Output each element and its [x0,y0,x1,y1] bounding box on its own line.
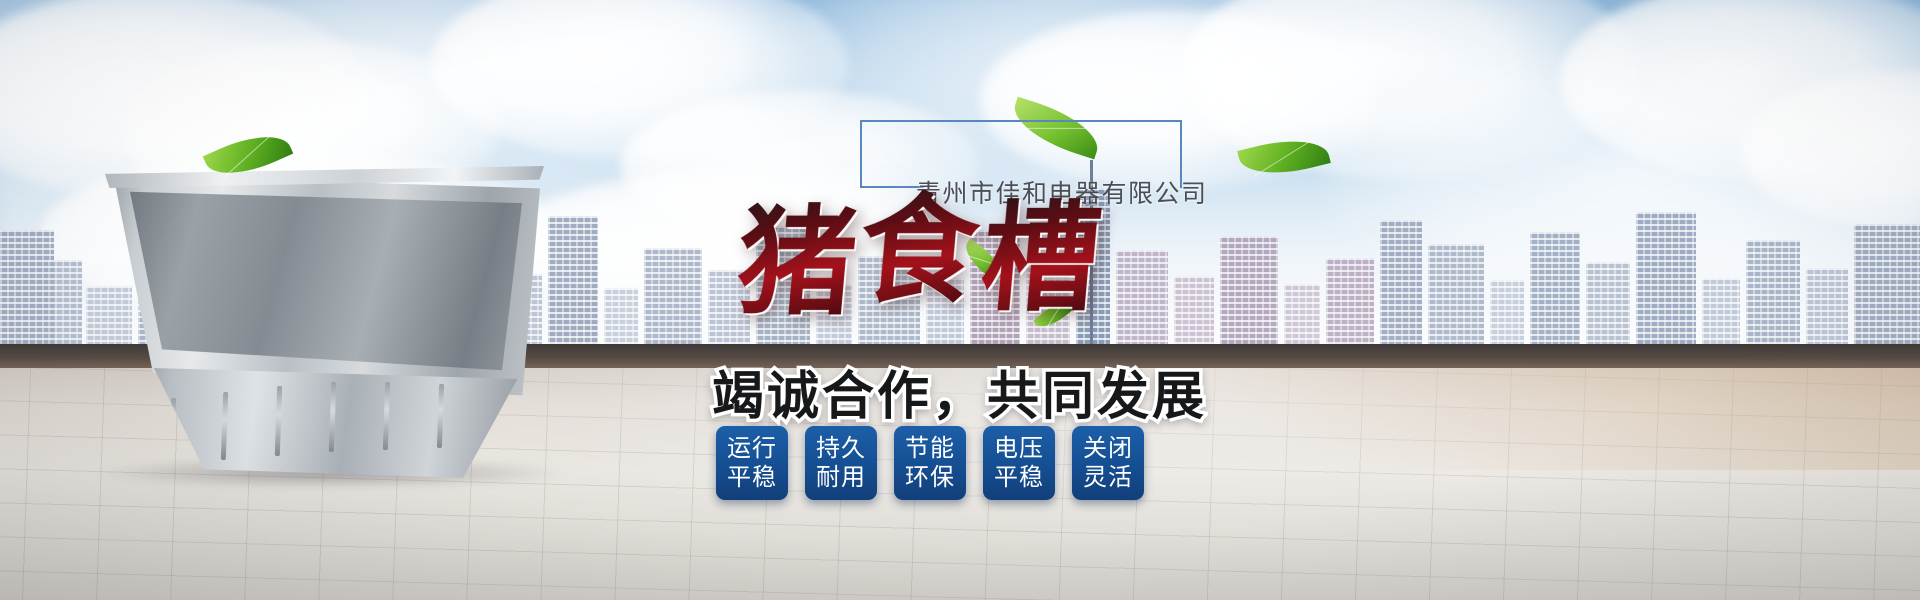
main-title-char-2: 食 [855,190,984,310]
feature-badge-4-line1: 电压 [994,434,1044,463]
feature-badge-3-line1: 节能 [905,434,955,463]
feature-badge-1-line1: 运行 [727,434,777,463]
feature-badge-5[interactable]: 关闭 灵活 [1072,426,1144,500]
product-image-pig-feeder-trough [60,160,580,480]
feature-badge-5-line2: 灵活 [1083,463,1133,492]
feature-badge-4[interactable]: 电压 平稳 [983,426,1055,500]
feature-badge-3-line2: 环保 [905,463,955,492]
feature-badge-2-line1: 持久 [816,434,866,463]
feature-badge-4-line2: 平稳 [994,463,1044,492]
banner-subtitle: 竭诚合作，共同发展 [712,354,1207,429]
feature-badge-list: 运行 平稳 持久 耐用 节能 环保 电压 平稳 关闭 灵活 [716,426,1144,500]
promotional-banner: 青州市佳和电器有限公司 猪 食 槽 竭诚合作，共同发展 运行 平稳 持久 耐用 … [0,0,1920,600]
main-title: 猪 食 槽 [710,196,1330,318]
main-title-char-3: 槽 [977,198,1106,318]
main-title-char-1: 猪 [733,202,862,322]
feature-badge-5-line1: 关闭 [1083,434,1133,463]
feature-badge-3[interactable]: 节能 环保 [894,426,966,500]
banner-copy-block: 青州市佳和电器有限公司 猪 食 槽 竭诚合作，共同发展 运行 平稳 持久 耐用 … [700,96,1340,566]
feature-badge-2[interactable]: 持久 耐用 [805,426,877,500]
feature-badge-1[interactable]: 运行 平稳 [716,426,788,500]
feature-badge-1-line2: 平稳 [727,463,777,492]
feature-badge-2-line2: 耐用 [816,463,866,492]
